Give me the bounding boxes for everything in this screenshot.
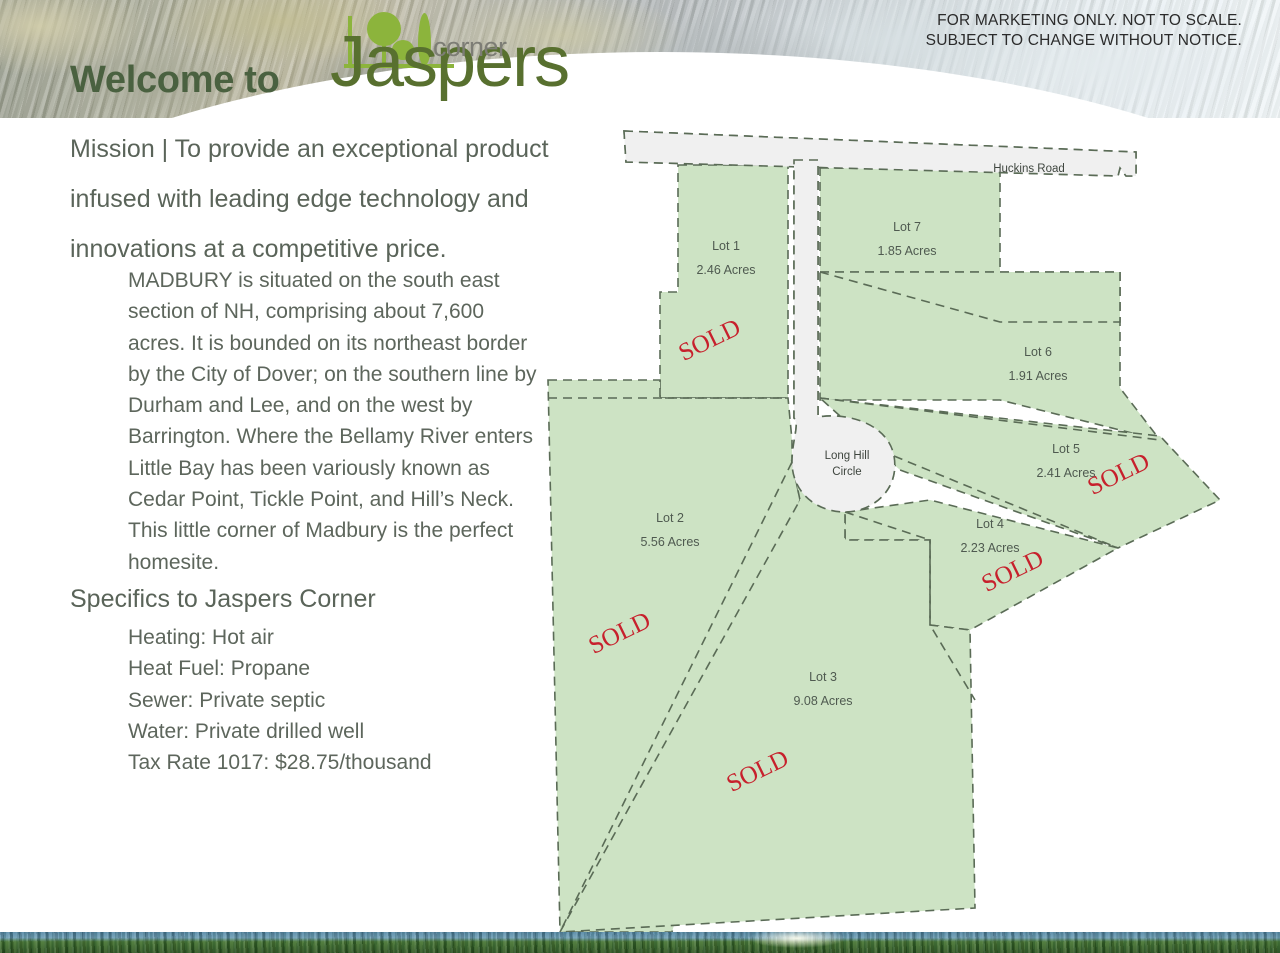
huckins-road-label: Huckins Road (993, 163, 1065, 175)
lot-2-shape (548, 380, 800, 932)
lot-7-name: Lot 7 (893, 220, 921, 234)
lot-6-shape (820, 272, 1160, 440)
spec-item-heat-fuel: Heat Fuel: Propane (128, 653, 432, 684)
lot-1-acres: 2.46 Acres (696, 263, 755, 277)
lot-3-acres: 9.08 Acres (793, 694, 852, 708)
jaspers-corner-logo: Jaspers corner (330, 2, 530, 114)
lot-5-sold-stamp: SOLD (1083, 448, 1154, 501)
long-hill-circle-label-line2: Circle (832, 466, 861, 478)
disclaimer-line-1: FOR MARKETING ONLY. NOT TO SCALE. (926, 11, 1242, 31)
spec-item-heating: Heating: Hot air (128, 622, 432, 653)
footer-sun-glow (742, 932, 852, 953)
specifics-heading: Specifics to Jaspers Corner (70, 585, 376, 614)
lot-3-sold-stamp: SOLD (722, 745, 793, 798)
lot-4-acres: 2.23 Acres (960, 541, 1019, 555)
spec-item-water: Water: Private drilled well (128, 716, 432, 747)
divider-lot2-lot3 (560, 462, 792, 932)
divider-lot5-lot4 (894, 456, 1118, 548)
lot-1-sold-stamp: SOLD (674, 314, 745, 367)
lot-4-sold-stamp: SOLD (977, 545, 1048, 598)
huckins-road-shape (624, 131, 1136, 176)
lot-4-name: Lot 4 (976, 517, 1004, 531)
marketing-flyer-page: FOR MARKETING ONLY. NOT TO SCALE. SUBJEC… (0, 0, 1280, 953)
lot-3-name: Lot 3 (809, 670, 837, 684)
lot-7-acres: 1.85 Acres (877, 244, 936, 258)
divider-lot7-lot6 (820, 272, 1120, 322)
divider-lot6-lot5 (820, 398, 1160, 440)
footer-photo-texture (0, 932, 1280, 953)
lot-6-acres: 1.91 Acres (1008, 369, 1067, 383)
lot-6-name: Lot 6 (1024, 345, 1052, 359)
specifics-list: Heating: Hot air Heat Fuel: Propane Sewe… (128, 622, 432, 778)
lot-3-shape (560, 462, 975, 932)
madbury-description: MADBURY is situated on the south east se… (128, 265, 538, 578)
spec-item-sewer: Sewer: Private septic (128, 685, 432, 716)
lot-5-name: Lot 5 (1052, 442, 1080, 456)
lot-1-shape (660, 165, 788, 398)
lot-5-shape (820, 398, 1220, 548)
welcome-heading: Welcome to (70, 59, 280, 102)
spec-item-tax-rate: Tax Rate 1017: $28.75/thousand (128, 747, 432, 778)
lot-2-sold-stamp: SOLD (584, 607, 655, 660)
logo-corner-text: corner (433, 32, 507, 63)
long-hill-circle-shape (792, 160, 895, 512)
divider-lot3-lot4 (845, 512, 975, 700)
lot-2-acres: 5.56 Acres (640, 535, 699, 549)
lot-7-shape (820, 168, 1120, 322)
disclaimer-line-2: SUBJECT TO CHANGE WITHOUT NOTICE. (926, 31, 1242, 51)
long-hill-circle-label-line1: Long Hill (825, 450, 870, 462)
lot-1-name: Lot 1 (712, 239, 740, 253)
lot-4-shape (845, 500, 1118, 630)
lot-2-name: Lot 2 (656, 511, 684, 525)
lot-5-acres: 2.41 Acres (1036, 466, 1095, 480)
footer-photo-strip (0, 932, 1280, 953)
disclaimer: FOR MARKETING ONLY. NOT TO SCALE. SUBJEC… (926, 11, 1242, 50)
mission-statement: Mission | To provide an exceptional prod… (70, 124, 610, 274)
